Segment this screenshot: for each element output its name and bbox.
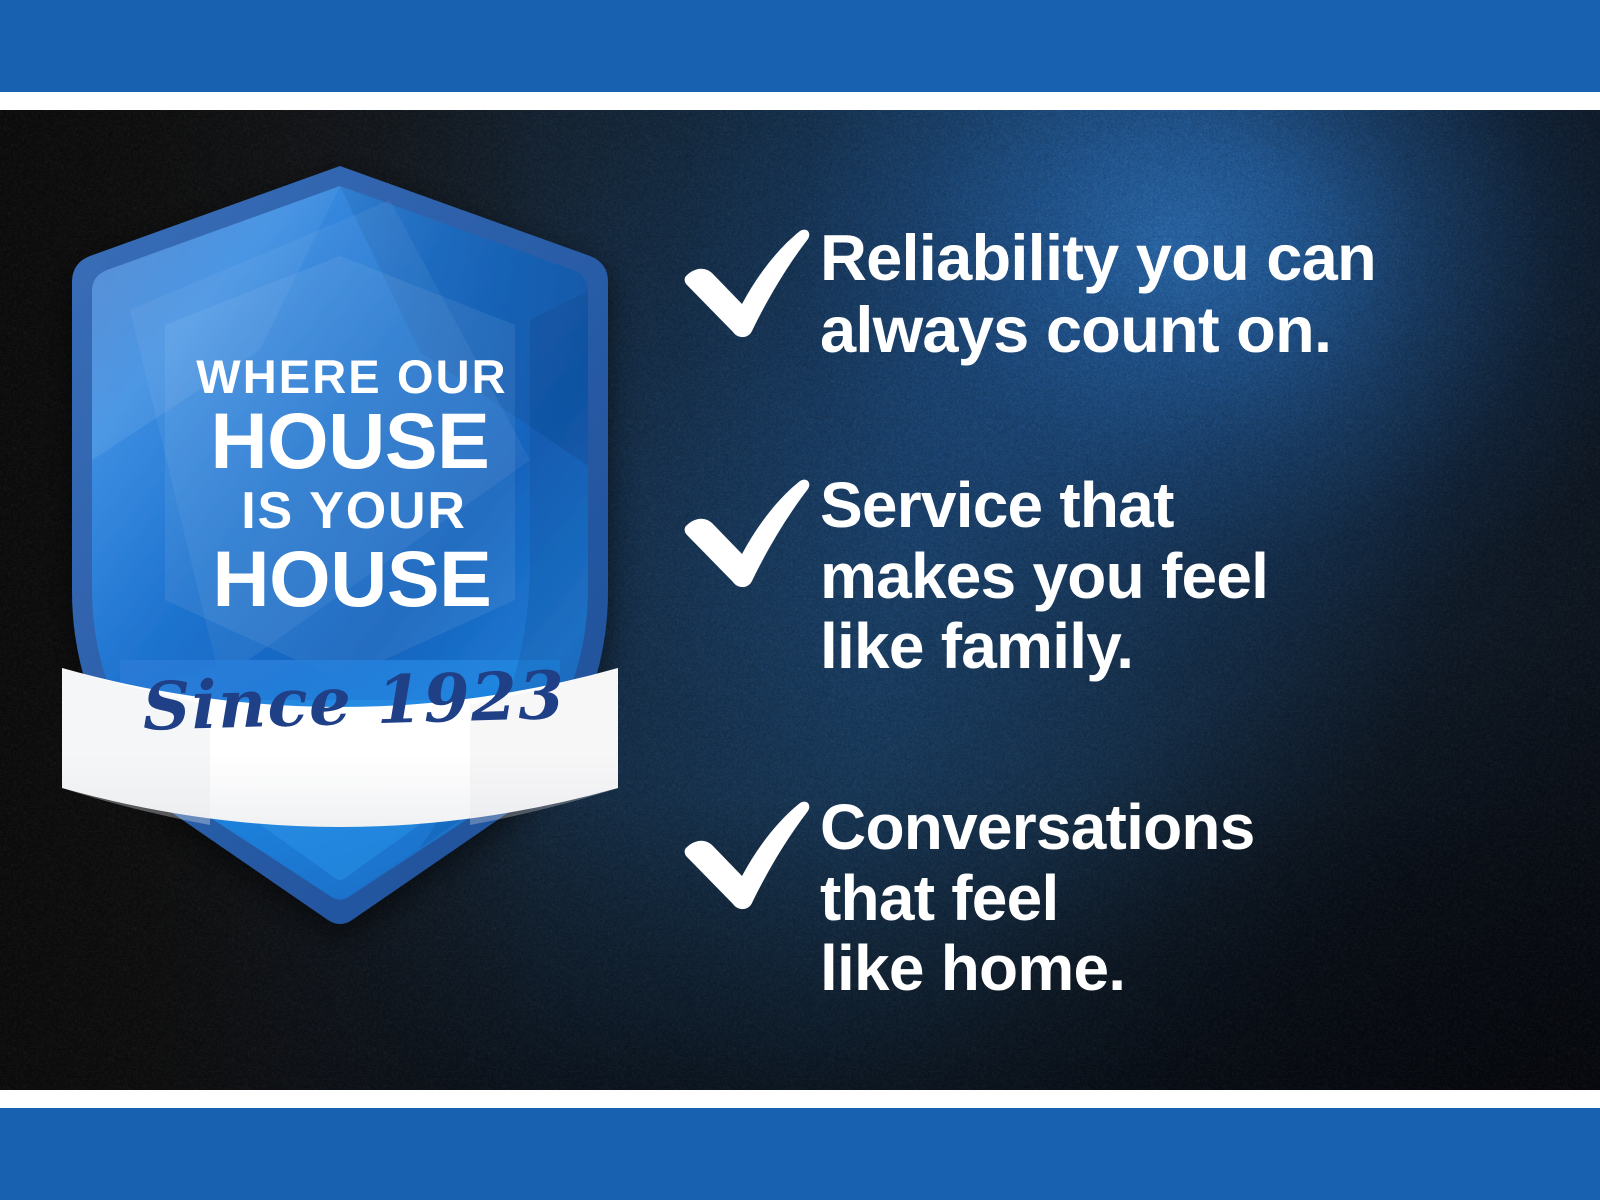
brand-bar-bottom-divider	[0, 1090, 1600, 1108]
check-icon	[660, 218, 820, 338]
promo-graphic: Where our House is your House Since 1923…	[0, 0, 1600, 1200]
check-icon	[660, 468, 820, 588]
checklist-item-service: Service that makes you feel like family.	[660, 468, 1540, 682]
benefits-checklist: Reliability you can always count on. Ser…	[660, 110, 1540, 1090]
checklist-item-text: Conversations that feel like home.	[820, 790, 1540, 1004]
checklist-item-text: Service that makes you feel like family.	[820, 468, 1540, 682]
checklist-item-conversations: Conversations that feel like home.	[660, 790, 1540, 1004]
brand-bar-top-divider	[0, 92, 1600, 110]
brand-bar-top	[0, 0, 1600, 92]
brand-bar-bottom	[0, 1108, 1600, 1200]
checklist-item-reliability: Reliability you can always count on.	[660, 218, 1540, 366]
check-icon	[660, 790, 820, 910]
shield-emblem: Where our House is your House Since 1923	[60, 160, 620, 950]
checklist-item-text: Reliability you can always count on.	[820, 218, 1540, 366]
shield-ribbon	[54, 664, 626, 827]
